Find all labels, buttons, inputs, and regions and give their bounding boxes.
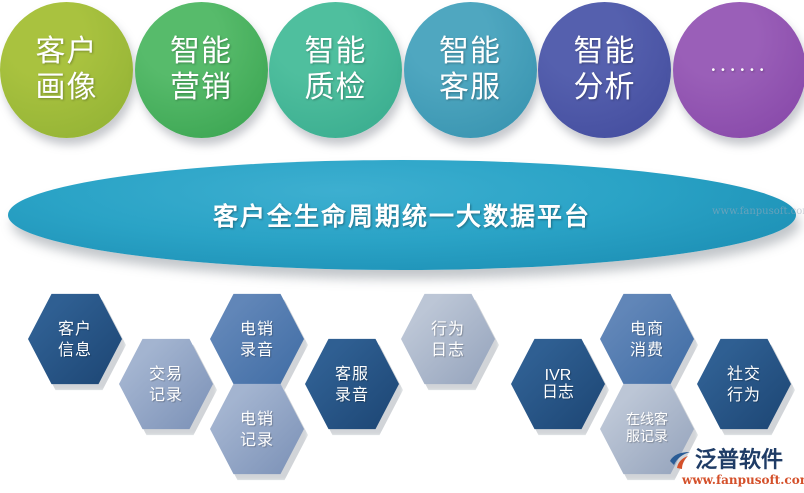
capability-circle-smart-service[interactable]: 智能客服 [404, 2, 537, 138]
data-source-label-line1: 在线客 [626, 412, 668, 429]
capability-label-line2: 分析 [574, 70, 636, 106]
capability-label-line1: 客户 [36, 34, 98, 70]
capability-label-line1: 智能 [574, 34, 636, 70]
data-source-label-line2: 消费 [630, 339, 664, 360]
data-source-label-line1: 客户 [58, 318, 92, 339]
capability-label-line1: 智能 [170, 34, 232, 70]
capability-circle-smart-marketing[interactable]: 智能营销 [135, 2, 268, 138]
data-source-hex-field: 客户信息交易记录电销录音电销记录客服录音行为日志IVR日志电商消费在线客服记录社… [0, 280, 804, 493]
capability-label-line1: 智能 [305, 34, 367, 70]
data-source-label-line2: 日志 [542, 384, 574, 401]
capability-circle-more[interactable]: ······ [673, 2, 804, 138]
platform-ellipse: 客户全生命周期统一大数据平台 [8, 160, 796, 270]
capability-circle-smart-analysis[interactable]: 智能分析 [538, 2, 671, 138]
data-source-label-line2: 录音 [335, 384, 369, 405]
data-source-label-line1: 电销 [240, 318, 274, 339]
data-source-label-line1: 社交 [727, 363, 761, 384]
data-source-label-line2: 日志 [431, 339, 465, 360]
capability-circle-smart-qc[interactable]: 智能质检 [269, 2, 402, 138]
capability-label-line1: 智能 [439, 34, 501, 70]
data-source-label-line1: 交易 [149, 363, 183, 384]
capability-label-line2: 画像 [36, 70, 98, 106]
capability-label-line2: 营销 [170, 70, 232, 106]
diagram-canvas: 客户画像智能营销智能质检智能客服智能分析······ 客户全生命周期统一大数据平… [0, 0, 804, 493]
platform-label: 客户全生命周期统一大数据平台 [213, 197, 591, 233]
capability-label-line2: 客服 [439, 70, 501, 106]
data-source-label-line1: 电销 [240, 408, 274, 429]
data-source-label-line2: 信息 [58, 339, 92, 360]
data-source-label-line1: IVR [545, 367, 572, 384]
data-source-label-line1: 客服 [335, 363, 369, 384]
data-source-label-line2: 服记录 [626, 429, 668, 446]
data-source-label-line1: 行为 [431, 318, 465, 339]
data-source-label-line1: 电商 [630, 318, 664, 339]
data-source-label-line2: 录音 [240, 339, 274, 360]
capability-circle-row: 客户画像智能营销智能质检智能客服智能分析······ [0, 0, 804, 148]
data-source-label-line2: 行为 [727, 384, 761, 405]
capability-circle-customer-profile[interactable]: 客户画像 [0, 2, 133, 138]
data-source-label-line2: 记录 [149, 384, 183, 405]
capability-label-line2: 质检 [305, 70, 367, 106]
data-source-label-line2: 记录 [240, 429, 274, 450]
capability-label-line1: ······ [710, 58, 768, 82]
